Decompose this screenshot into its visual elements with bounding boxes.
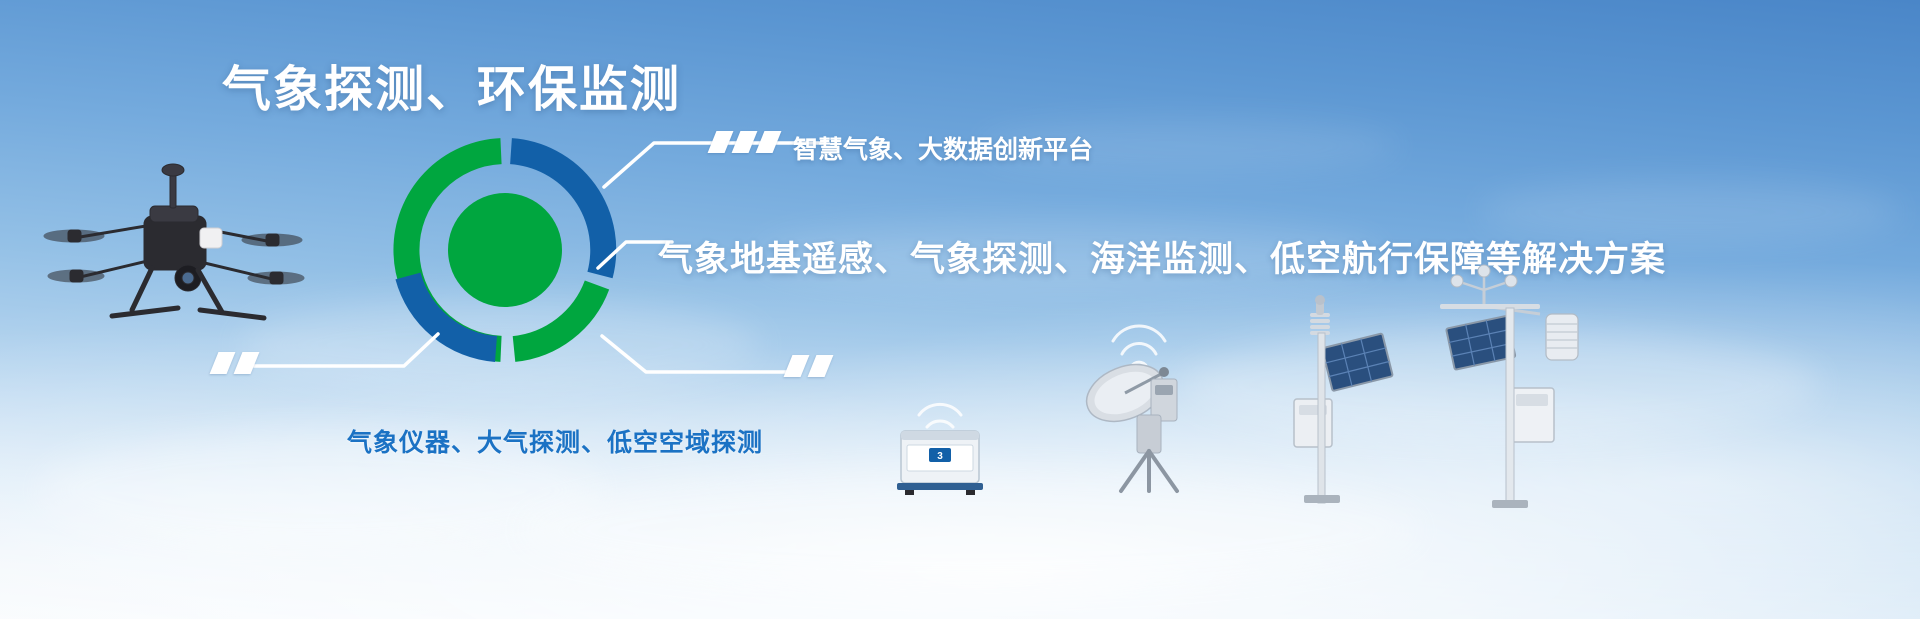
accent-slashes-bottom-right: [788, 355, 829, 377]
solar-weather-station: [1270, 295, 1400, 505]
automatic-weather-station: [1410, 270, 1600, 510]
slash-icon: [708, 131, 734, 153]
slash-icon: [808, 355, 834, 377]
slash-icon: [756, 131, 782, 153]
accent-slashes-bottom-left: [214, 352, 255, 374]
label-smart-weather: 智慧气象、大数据创新平台: [793, 130, 1093, 166]
donut-core: [448, 193, 562, 307]
svg-text:3: 3: [937, 451, 943, 462]
slash-icon: [210, 352, 236, 374]
lidar-instrument: 3: [885, 385, 995, 495]
slash-icon: [784, 355, 810, 377]
label-instruments: 气象仪器、大气探测、低空空域探测: [347, 423, 763, 459]
slash-icon: [732, 131, 758, 153]
weather-detection-banner: 气象探测、环保监测 智: [0, 0, 1920, 619]
satellite-dish-instrument: [1065, 315, 1205, 495]
drone-illustration: [40, 150, 300, 350]
slash-icon: [234, 352, 260, 374]
page-title: 气象探测、环保监测: [222, 50, 681, 121]
donut-chart: [390, 135, 620, 365]
accent-slashes-top: [712, 131, 777, 153]
